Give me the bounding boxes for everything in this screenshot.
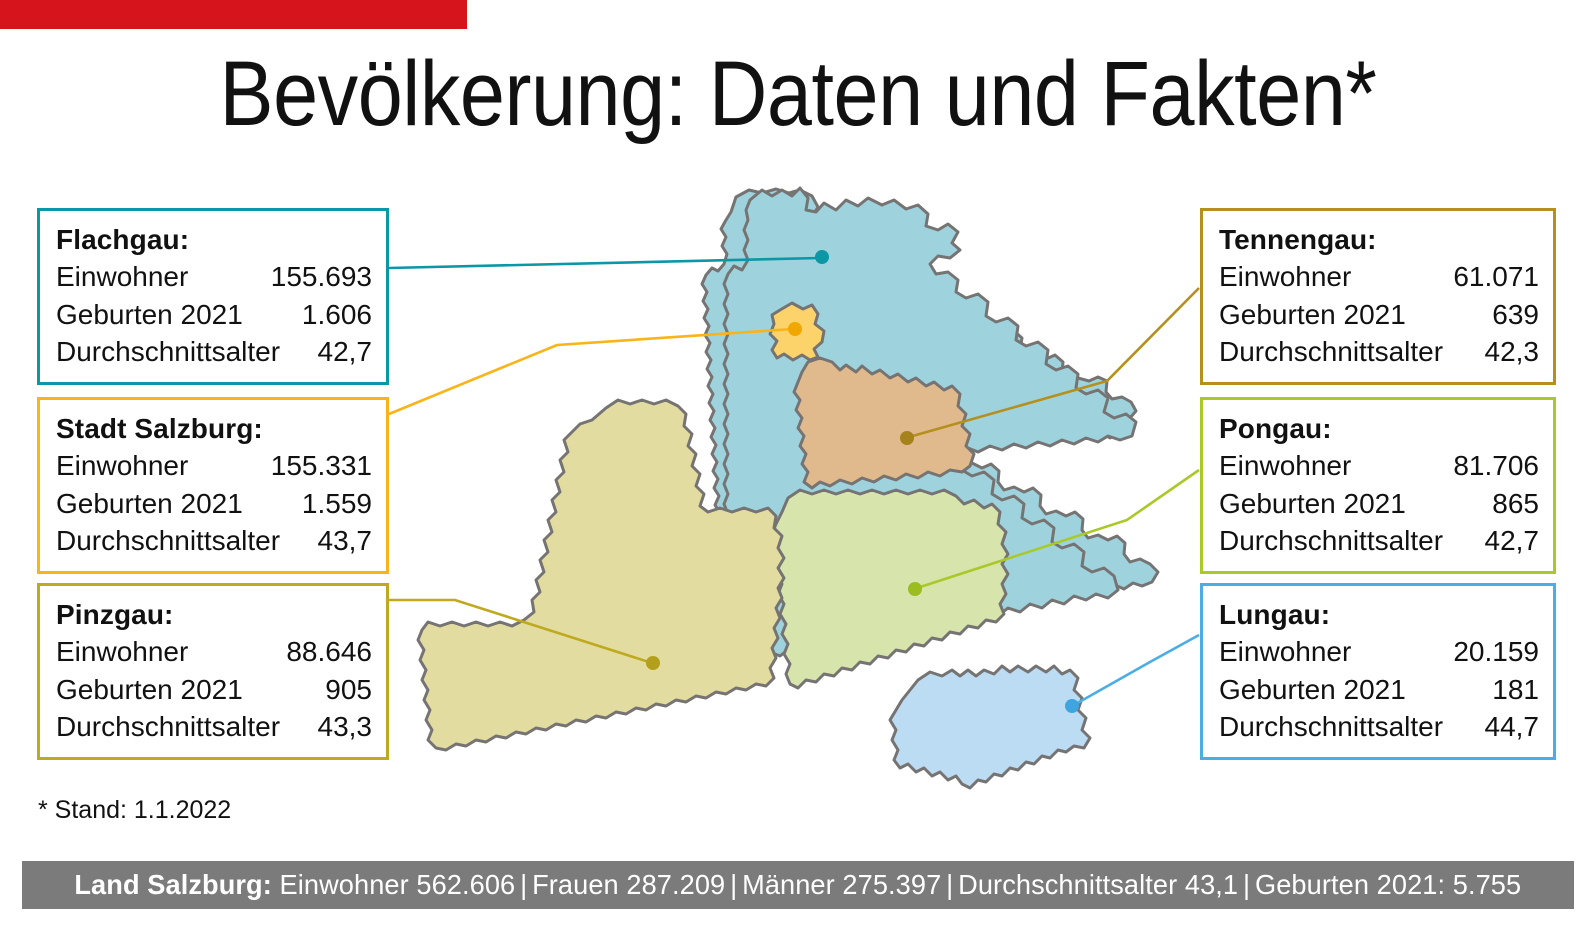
row-label: Durchschnittsalter xyxy=(56,708,280,745)
row-value: 43,3 xyxy=(302,708,373,745)
map-region-flachgau xyxy=(618,189,1158,672)
district-row-geburten: Geburten 2021 1.559 xyxy=(56,485,372,522)
row-value: 181 xyxy=(1476,671,1539,708)
footer-separator: | xyxy=(1238,869,1255,900)
district-title-flachgau: Flachgau: xyxy=(56,222,372,258)
footnote-stand: * Stand: 1.1.2022 xyxy=(38,796,231,825)
map-shape-flachgau xyxy=(622,188,1136,700)
footer-item-durchschnittsalter: Durchschnittsalter 43,1 xyxy=(958,869,1238,900)
district-title-pinzgau: Pinzgau: xyxy=(56,597,372,633)
map-shape-pinzgau xyxy=(418,400,784,750)
district-row-einwohner: Einwohner 155.331 xyxy=(56,447,372,484)
district-card-flachgau[interactable]: Flachgau: Einwohner 155.693 Geburten 202… xyxy=(37,208,389,385)
row-value: 155.331 xyxy=(255,447,372,484)
district-row-geburten: Geburten 2021 865 xyxy=(1219,485,1539,522)
leader-line-lungau xyxy=(1074,635,1199,705)
map-shape-tennengau xyxy=(794,358,974,488)
district-card-pongau[interactable]: Pongau: Einwohner 81.706 Geburten 2021 8… xyxy=(1200,397,1556,574)
district-row-einwohner: Einwohner 61.071 xyxy=(1219,258,1539,295)
footer-item-einwohner: Einwohner 562.606 xyxy=(280,869,516,900)
map-shape-stadt-salzburg xyxy=(770,303,824,360)
leader-line-flachgau xyxy=(389,258,820,268)
row-label: Geburten 2021 xyxy=(56,296,243,333)
leader-dot-tennengau xyxy=(900,431,914,445)
summary-footer-text: Land Salzburg: Einwohner 562.606|Frauen … xyxy=(75,869,1522,901)
district-row-durchschnittsalter: Durchschnittsalter 43,3 xyxy=(56,708,372,745)
district-row-durchschnittsalter: Durchschnittsalter 42,3 xyxy=(1219,333,1539,370)
row-value: 44,7 xyxy=(1469,708,1540,745)
row-value: 42,7 xyxy=(1469,522,1540,559)
row-value: 81.706 xyxy=(1437,447,1539,484)
row-label: Geburten 2021 xyxy=(1219,671,1406,708)
footer-separator: | xyxy=(725,869,742,900)
row-value: 42,7 xyxy=(302,333,373,370)
leader-dot-lungau xyxy=(1065,699,1079,713)
district-row-geburten: Geburten 2021 905 xyxy=(56,671,372,708)
district-row-geburten: Geburten 2021 181 xyxy=(1219,671,1539,708)
footer-separator: | xyxy=(515,869,532,900)
row-label: Geburten 2021 xyxy=(56,485,243,522)
row-value: 865 xyxy=(1476,485,1539,522)
district-row-durchschnittsalter: Durchschnittsalter 44,7 xyxy=(1219,708,1539,745)
district-row-einwohner: Einwohner 20.159 xyxy=(1219,633,1539,670)
row-label: Geburten 2021 xyxy=(56,671,243,708)
row-label: Durchschnittsalter xyxy=(1219,333,1443,370)
page-title: Bevölkerung: Daten und Fakten* xyxy=(96,48,1500,140)
row-label: Einwohner xyxy=(56,258,188,295)
row-label: Durchschnittsalter xyxy=(56,333,280,370)
row-label: Einwohner xyxy=(1219,447,1351,484)
row-value: 155.693 xyxy=(255,258,372,295)
leader-line-pinzgau xyxy=(389,600,652,663)
district-row-geburten: Geburten 2021 639 xyxy=(1219,296,1539,333)
district-row-durchschnittsalter: Durchschnittsalter 42,7 xyxy=(1219,522,1539,559)
leader-dot-pongau xyxy=(908,582,922,596)
district-card-lungau[interactable]: Lungau: Einwohner 20.159 Geburten 2021 1… xyxy=(1200,583,1556,760)
district-row-einwohner: Einwohner 155.693 xyxy=(56,258,372,295)
footer-item-geburten: Geburten 2021: 5.755 xyxy=(1255,869,1521,900)
leader-dot-pinzgau xyxy=(646,656,660,670)
leader-dot-flachgau xyxy=(815,250,829,264)
district-title-stadt-salzburg: Stadt Salzburg: xyxy=(56,411,372,447)
district-card-stadt-salzburg[interactable]: Stadt Salzburg: Einwohner 155.331 Geburt… xyxy=(37,397,389,574)
map-shape-pongau xyxy=(772,490,1008,688)
row-label: Geburten 2021 xyxy=(1219,485,1406,522)
footer-lead: Land Salzburg: xyxy=(75,869,273,900)
row-label: Durchschnittsalter xyxy=(1219,708,1443,745)
row-value: 20.159 xyxy=(1437,633,1539,670)
row-label: Durchschnittsalter xyxy=(1219,522,1443,559)
row-label: Geburten 2021 xyxy=(1219,296,1406,333)
leader-line-tennengau xyxy=(909,288,1199,437)
map-shape-lungau xyxy=(890,666,1090,788)
leader-line-pongau xyxy=(917,470,1199,588)
row-label: Einwohner xyxy=(1219,633,1351,670)
map-regions-group xyxy=(418,188,1136,788)
district-row-geburten: Geburten 2021 1.606 xyxy=(56,296,372,333)
row-value: 639 xyxy=(1476,296,1539,333)
summary-footer-bar: Land Salzburg: Einwohner 562.606|Frauen … xyxy=(22,861,1574,909)
district-card-tennengau[interactable]: Tennengau: Einwohner 61.071 Geburten 202… xyxy=(1200,208,1556,385)
district-title-tennengau: Tennengau: xyxy=(1219,222,1539,258)
row-value: 61.071 xyxy=(1437,258,1539,295)
row-value: 42,3 xyxy=(1469,333,1540,370)
district-title-lungau: Lungau: xyxy=(1219,597,1539,633)
row-value: 43,7 xyxy=(302,522,373,559)
row-value: 1.559 xyxy=(286,485,372,522)
footer-separator: | xyxy=(941,869,958,900)
row-value: 1.606 xyxy=(286,296,372,333)
row-label: Einwohner xyxy=(1219,258,1351,295)
accent-bar xyxy=(0,0,467,29)
footer-item-maenner: Männer 275.397 xyxy=(742,869,941,900)
row-label: Einwohner xyxy=(56,633,188,670)
leader-dot-stadt-salzburg xyxy=(788,322,802,336)
district-title-pongau: Pongau: xyxy=(1219,411,1539,447)
district-row-durchschnittsalter: Durchschnittsalter 43,7 xyxy=(56,522,372,559)
district-card-pinzgau[interactable]: Pinzgau: Einwohner 88.646 Geburten 2021 … xyxy=(37,583,389,760)
district-row-einwohner: Einwohner 81.706 xyxy=(1219,447,1539,484)
row-label: Durchschnittsalter xyxy=(56,522,280,559)
leader-line-stadt-salzburg xyxy=(389,329,793,414)
row-label: Einwohner xyxy=(56,447,188,484)
district-row-einwohner: Einwohner 88.646 xyxy=(56,633,372,670)
district-row-durchschnittsalter: Durchschnittsalter 42,7 xyxy=(56,333,372,370)
row-value: 905 xyxy=(309,671,372,708)
row-value: 88.646 xyxy=(270,633,372,670)
infographic-canvas: Bevölkerung: Daten und Fakten* xyxy=(0,0,1596,941)
footer-item-frauen: Frauen 287.209 xyxy=(532,869,725,900)
map-leader-lines xyxy=(389,250,1199,713)
